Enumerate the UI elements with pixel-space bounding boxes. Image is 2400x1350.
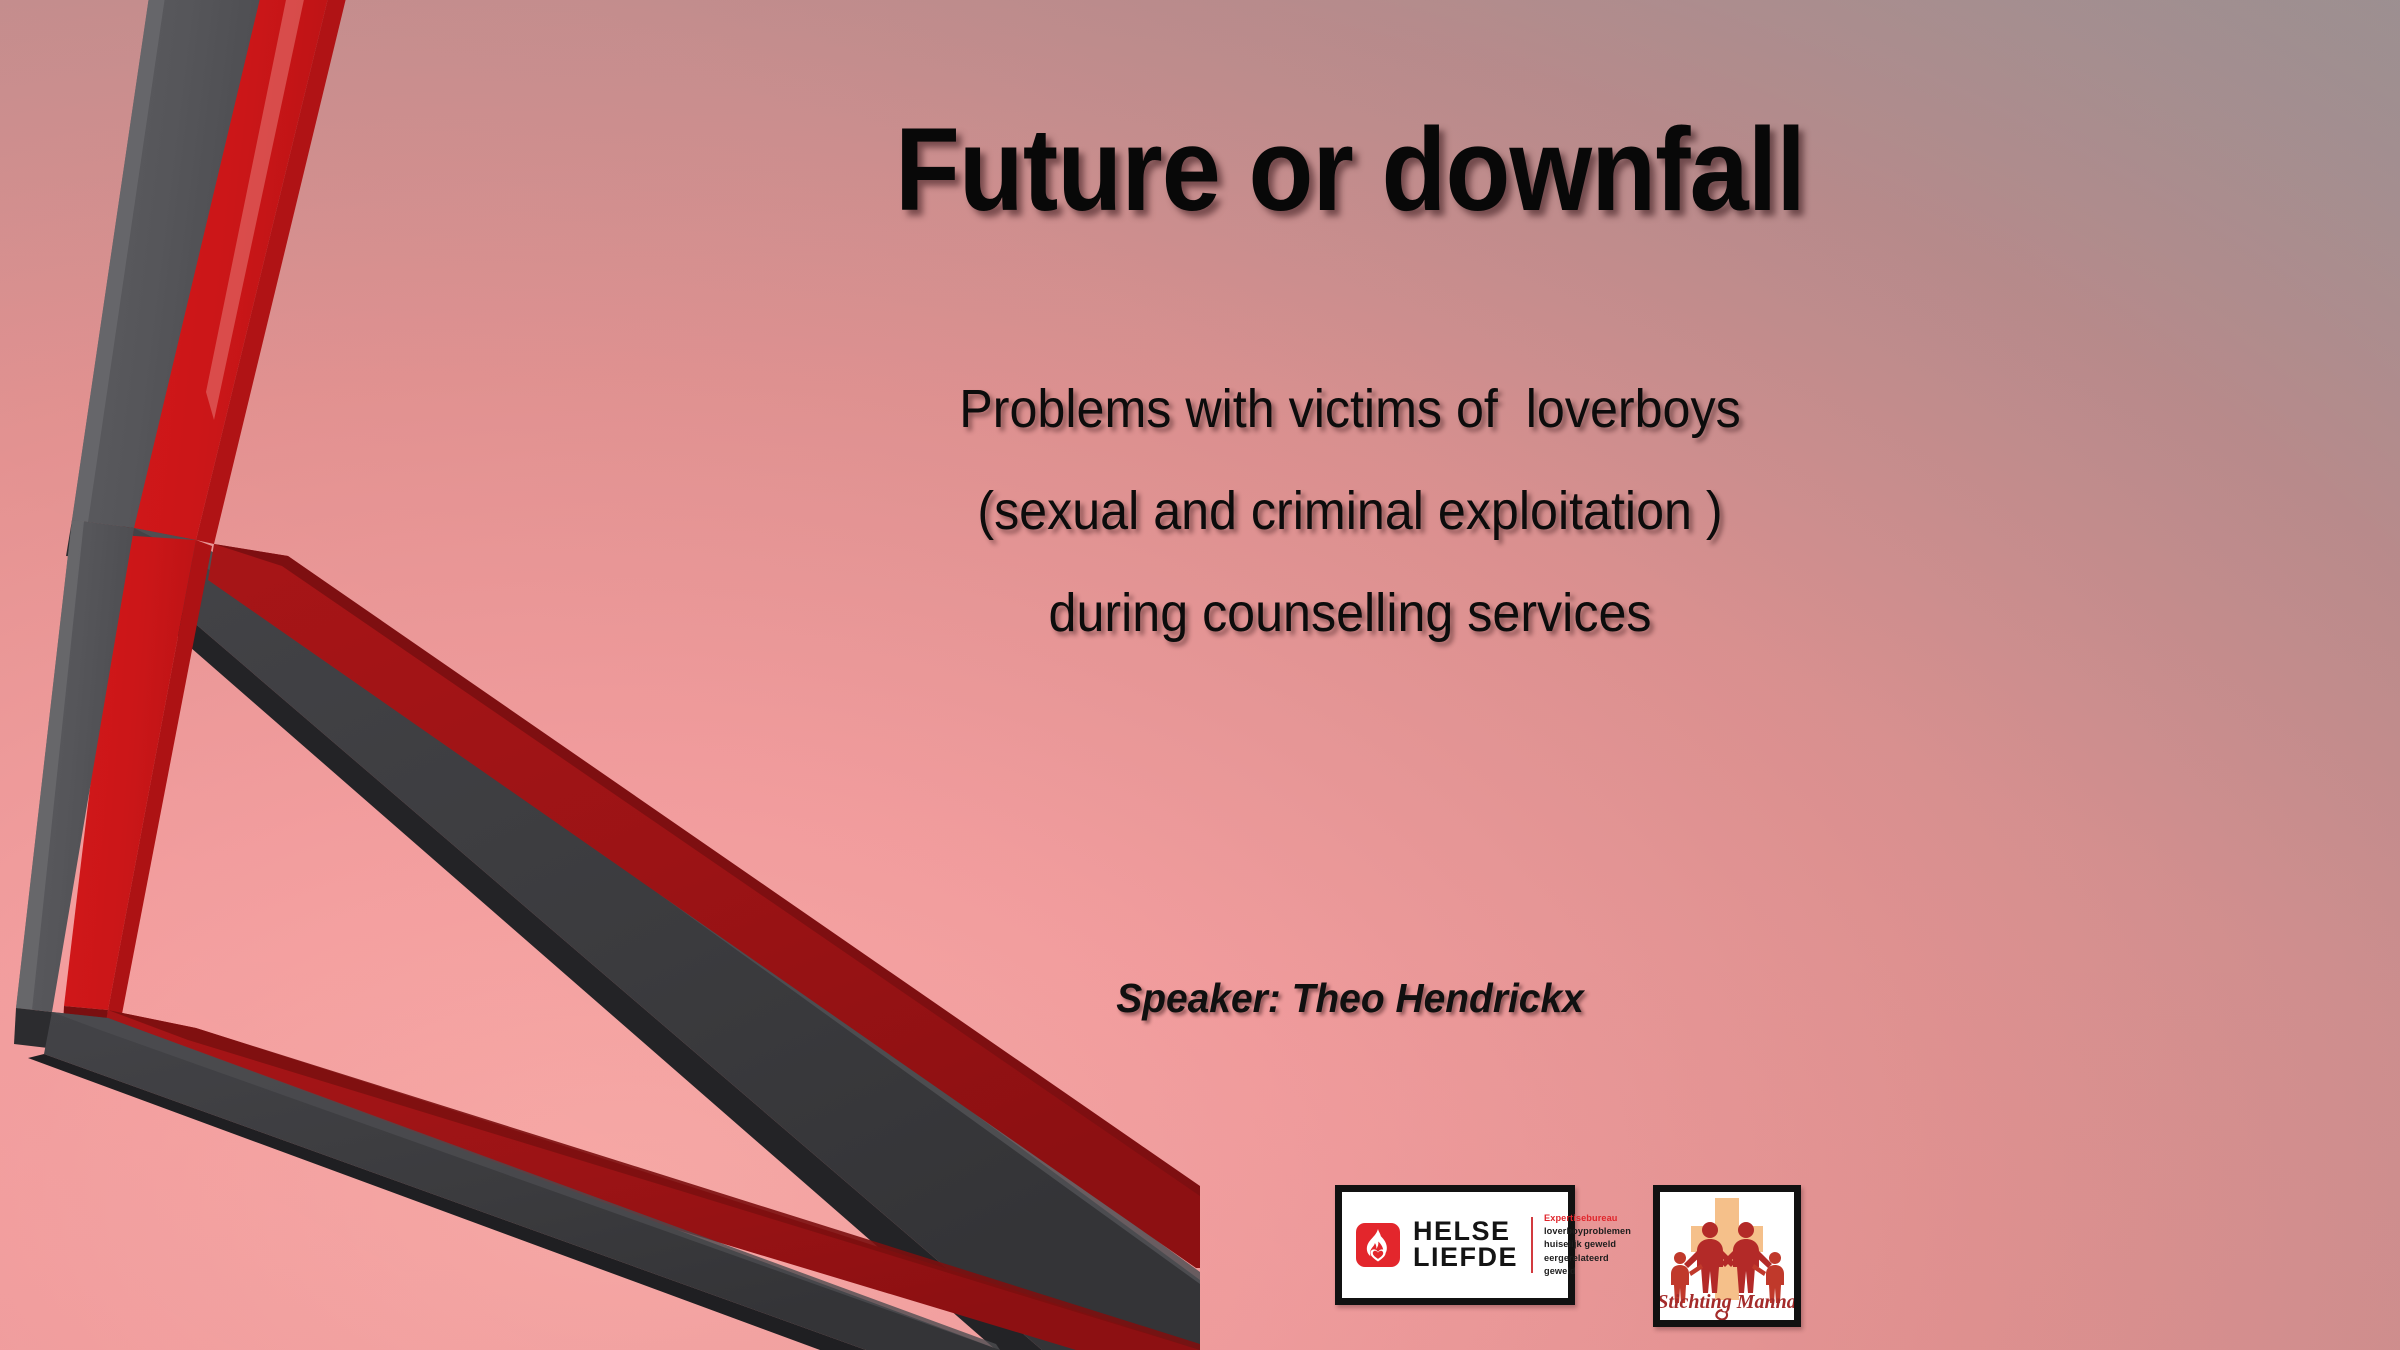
logo-row: HELSE LIEFDE Expertisebureau loverboypro… <box>1335 1185 1801 1327</box>
subtitle-line-1: Problems with victims of loverboys <box>653 358 2048 460</box>
speaker-credit: Speaker: Theo Hendrickx <box>638 975 2063 1022</box>
helse-liefde-wordmark: HELSE LIEFDE <box>1413 1219 1518 1271</box>
flame-heart-icon <box>1355 1222 1401 1268</box>
presentation-slide: Future or downfall Problems with victims… <box>0 0 2400 1350</box>
logo-divider <box>1531 1217 1533 1273</box>
subtitle-line-2: (sexual and criminal exploitation ) <box>653 460 2048 562</box>
subtitle-line-3: during counselling services <box>653 562 2048 664</box>
slide-subtitle: Problems with victims of loverboys (sexu… <box>600 358 2100 664</box>
cross-family-icon: Stichting Manna <box>1660 1192 1794 1320</box>
tagline-line-3: huiselijk geweld <box>1544 1238 1631 1251</box>
logo-helse-liefde: HELSE LIEFDE Expertisebureau loverboypro… <box>1335 1185 1575 1305</box>
helse-liefde-name-line2: LIEFDE <box>1413 1245 1518 1271</box>
logo-stichting-manna: Stichting Manna <box>1653 1185 1801 1327</box>
tagline-line-2: loverboyproblemen <box>1544 1225 1631 1238</box>
slide-title: Future or downfall <box>675 102 2025 238</box>
tagline-line-4: eergerelateerd geweld <box>1544 1252 1631 1278</box>
helse-liefde-tagline: Expertisebureau loverboyproblemen huisel… <box>1544 1212 1631 1277</box>
tagline-line-1: Expertisebureau <box>1544 1212 1631 1225</box>
stichting-manna-wordmark: Stichting Manna <box>1660 1291 1794 1313</box>
